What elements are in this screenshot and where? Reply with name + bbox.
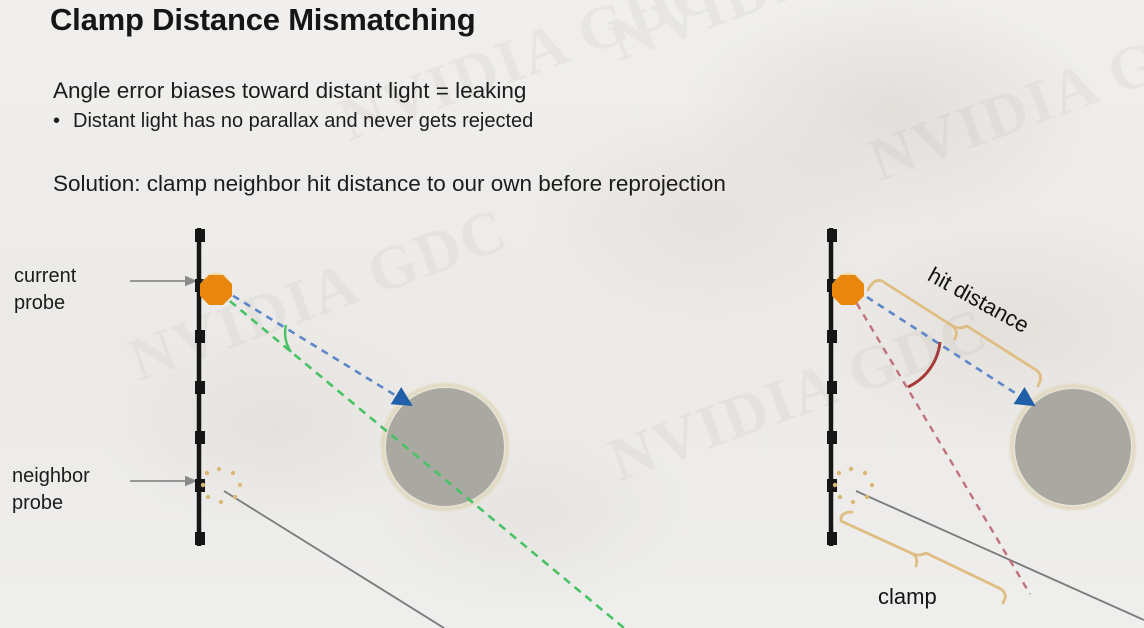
occluder-sphere-left [386,388,504,506]
neighbor-probe-marker-left[interactable] [201,467,242,504]
red-dashed-clamped-ray-right [850,292,1030,594]
gray-neighbor-ray-left [224,491,444,628]
angle-arc-right [908,342,940,387]
current-probe-marker-right[interactable] [832,275,864,305]
diagram-figure [0,0,1144,628]
blue-dashed-ray-left [222,289,403,400]
right-diagram-group [827,228,1144,620]
label-current-probe: current probe [14,263,76,317]
occluder-sphere-right [1015,389,1131,505]
slide-canvas: NVIDIA GDC NVIDIA GDC NVIDIA GDC NVIDIA … [0,0,1144,628]
neighbor-probe-marker-right[interactable] [833,467,874,504]
label-neighbor-probe: neighbor probe [12,463,90,517]
left-diagram-group [130,228,624,628]
label-clamp: clamp [878,584,937,610]
current-probe-marker-left[interactable] [200,275,232,305]
